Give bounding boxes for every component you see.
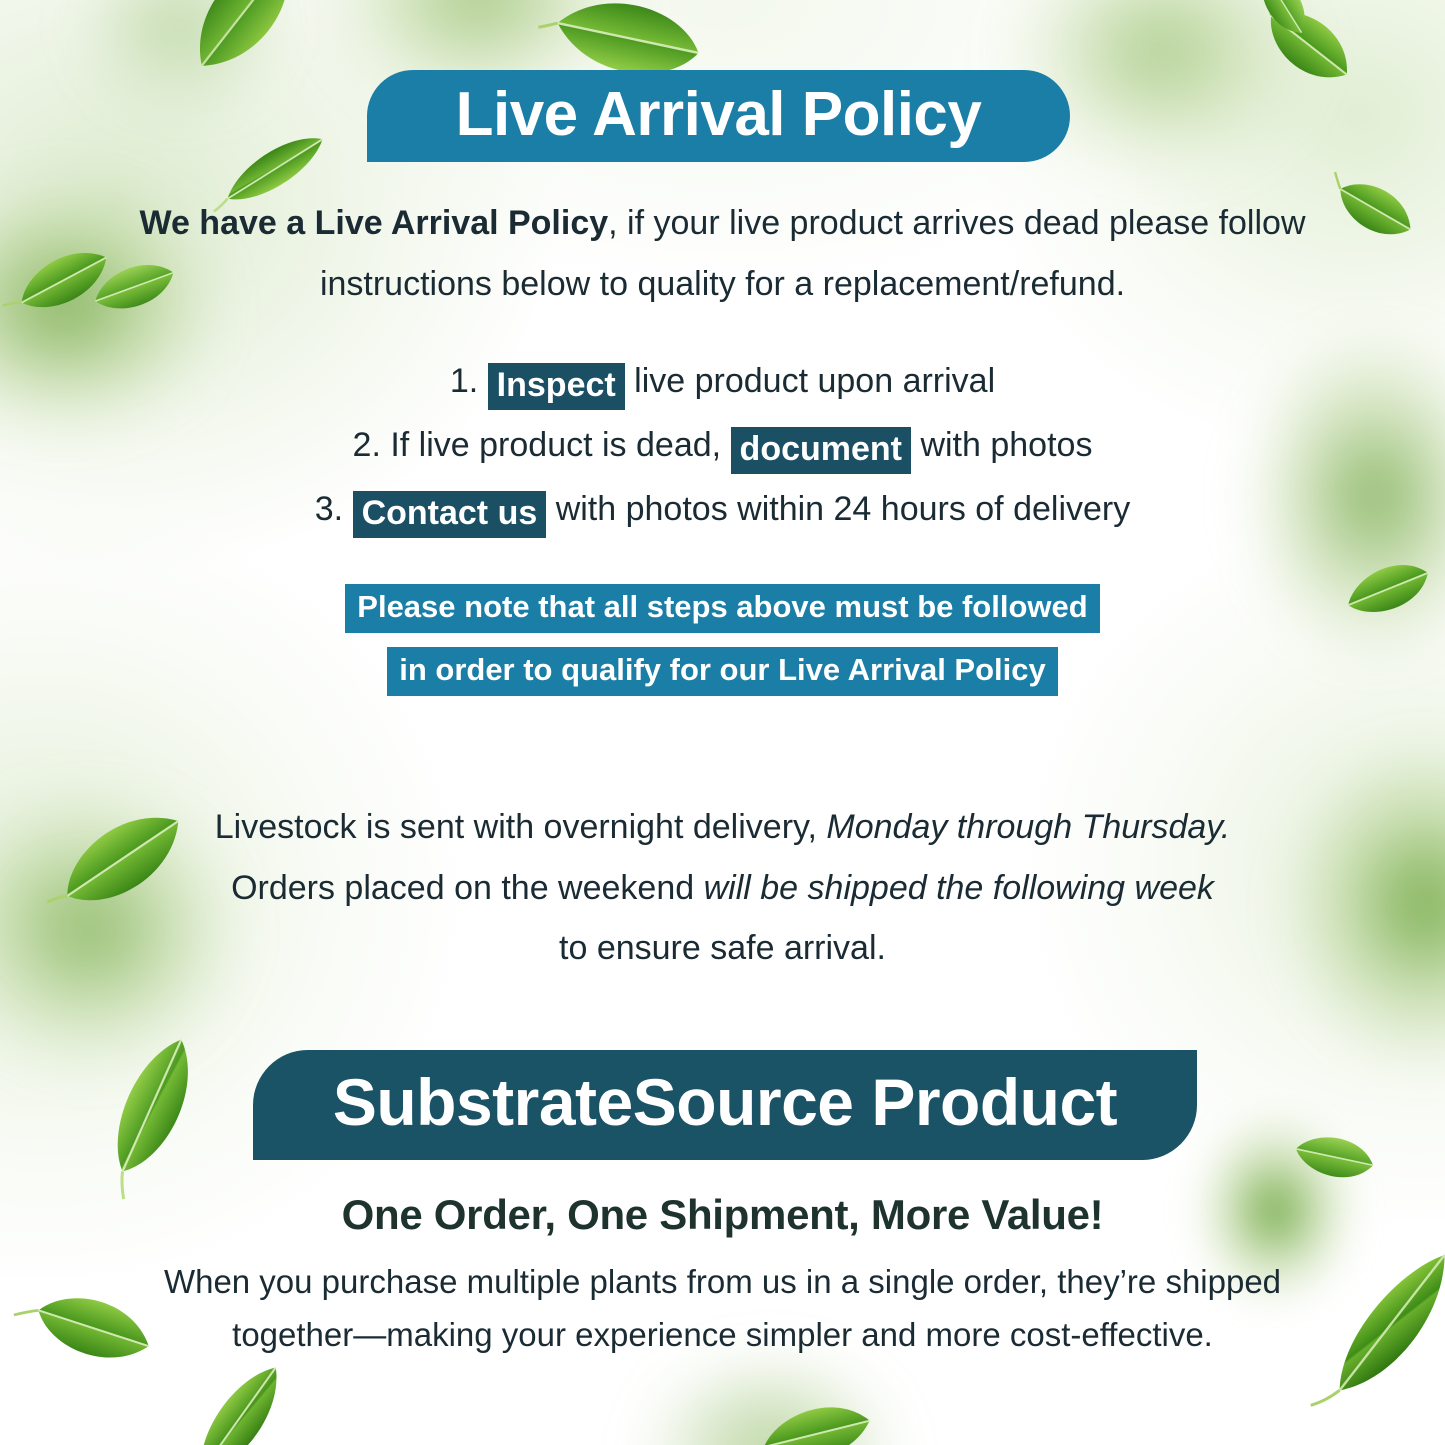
- live-arrival-policy-poster: Live Arrival Policy We have a Live Arriv…: [0, 0, 1445, 1445]
- brand-banner-label: SubstrateSource Product: [333, 1064, 1117, 1140]
- list-item: 3. Contact us with photos within 24 hour…: [0, 478, 1445, 542]
- step-number: 2.: [353, 426, 381, 464]
- note-line-2: in order to qualify for our Live Arrival…: [387, 647, 1058, 696]
- intro-paragraph: We have a Live Arrival Policy, if your l…: [0, 193, 1445, 314]
- step-text-after: live product upon arrival: [634, 362, 995, 400]
- note-row-1: Please note that all steps above must be…: [0, 584, 1445, 633]
- note-line-1: Please note that all steps above must be…: [345, 584, 1099, 633]
- step-number: 1.: [450, 362, 478, 400]
- steps-list: 1. Inspect live product upon arrival 2. …: [0, 350, 1445, 542]
- step-text-before: If live product is dead,: [390, 426, 721, 464]
- step-highlight: document: [731, 427, 911, 474]
- intro-bold-phrase: We have a Live Arrival Policy: [139, 204, 608, 242]
- shipping-line-1-plain: Livestock is sent with overnight deliver…: [215, 808, 817, 846]
- step-highlight: Contact us: [353, 491, 547, 538]
- page-title: Live Arrival Policy: [456, 79, 982, 150]
- step-text-after: with photos: [920, 426, 1092, 464]
- intro-line-2: instructions below to quality for a repl…: [0, 254, 1445, 315]
- shipping-line-3: to ensure safe arrival.: [0, 918, 1445, 979]
- note-row-2: in order to qualify for our Live Arrival…: [0, 647, 1445, 696]
- substratesource-product-banner: SubstrateSource Product: [253, 1050, 1197, 1160]
- value-line-1: When you purchase multiple plants from u…: [0, 1256, 1445, 1309]
- shipping-line-2: Orders placed on the weekend will be shi…: [0, 858, 1445, 919]
- value-line-2: together—making your experience simpler …: [0, 1309, 1445, 1362]
- shipping-line-2-plain: Orders placed on the weekend: [231, 869, 694, 907]
- shipping-line-1-italic: Monday through Thursday.: [826, 808, 1230, 846]
- shipping-line-1: Livestock is sent with overnight deliver…: [0, 797, 1445, 858]
- step-highlight: Inspect: [488, 363, 625, 410]
- list-item: 1. Inspect live product upon arrival: [0, 350, 1445, 414]
- list-item: 2. If live product is dead, document wit…: [0, 414, 1445, 478]
- value-paragraph: When you purchase multiple plants from u…: [0, 1256, 1445, 1362]
- intro-rest-line-1: , if your live product arrives dead plea…: [608, 204, 1305, 242]
- policy-note-callout: Please note that all steps above must be…: [0, 584, 1445, 710]
- live-arrival-policy-title-banner: Live Arrival Policy: [367, 70, 1070, 162]
- step-text-after: with photos within 24 hours of delivery: [556, 490, 1131, 528]
- shipping-paragraph: Livestock is sent with overnight deliver…: [0, 797, 1445, 979]
- intro-line-1: We have a Live Arrival Policy, if your l…: [0, 193, 1445, 254]
- shipping-line-2-italic: will be shipped the following week: [704, 869, 1214, 907]
- step-number: 3.: [315, 490, 343, 528]
- value-heading: One Order, One Shipment, More Value!: [0, 1191, 1445, 1239]
- poster-content: Live Arrival Policy We have a Live Arriv…: [0, 0, 1445, 1445]
